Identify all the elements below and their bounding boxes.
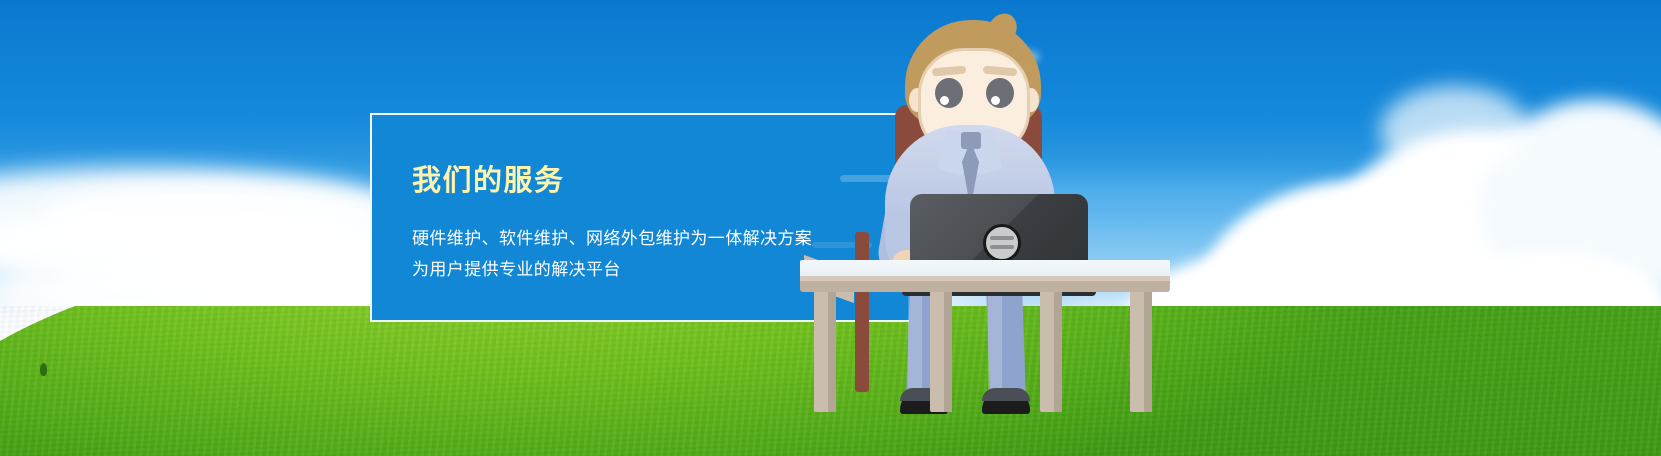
- laptop-logo-wave-icon: [990, 245, 1014, 249]
- panel-title: 我们的服务: [412, 157, 565, 199]
- character-eye-left: [935, 78, 963, 108]
- character-pupil-left: [940, 96, 949, 105]
- desk-leg-shadow: [1054, 290, 1062, 412]
- character-leg-left-highlight: [908, 278, 922, 406]
- desk-edge-highlight: [800, 276, 1170, 281]
- tree-icon: [40, 363, 47, 376]
- desk-leg-shadow: [828, 290, 836, 412]
- character-shoe-right-highlight: [982, 388, 1030, 401]
- desk-leg-shadow: [1144, 290, 1152, 412]
- cloud-wisp-icon: [1230, 250, 1320, 272]
- character-eye-right: [986, 78, 1014, 108]
- panel-subtitle-line-1: 硬件维护、软件维护、网络外包维护为一体解决方案: [412, 223, 812, 254]
- service-banner: 我们的服务 硬件维护、软件维护、网络外包维护为一体解决方案 为用户提供专业的解决…: [0, 0, 1661, 456]
- desk-leg-shadow: [944, 290, 952, 412]
- panel-subtitle-line-2: 为用户提供专业的解决平台: [412, 254, 812, 285]
- character-pupil-right: [991, 96, 1000, 105]
- cloud-icon: [1380, 86, 1530, 176]
- laptop-logo-wave-icon: [990, 236, 1014, 240]
- laptop-logo-icon: [983, 224, 1021, 262]
- panel-subtitle: 硬件维护、软件维护、网络外包维护为一体解决方案 为用户提供专业的解决平台: [412, 223, 812, 285]
- character-leg-right-highlight: [988, 278, 1002, 406]
- chair-leg: [855, 232, 869, 392]
- office-illustration: [790, 0, 1210, 456]
